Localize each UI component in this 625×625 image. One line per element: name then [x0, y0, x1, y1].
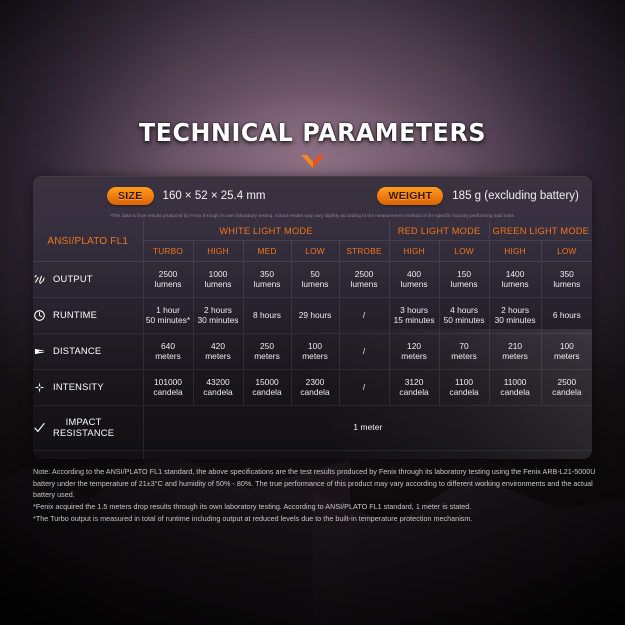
weight-value: 185 g (excluding battery)	[452, 190, 579, 202]
cell-output-red-low: 150 lumens	[439, 262, 489, 298]
cell-distance-green-high: 210 meters	[489, 333, 541, 369]
mode-header-white-low: LOW	[291, 241, 339, 262]
intensity-icon	[33, 381, 46, 394]
cell-intensity-white-med: 15000 candela	[243, 369, 291, 405]
mode-header-white-turbo: TURBO	[143, 241, 193, 262]
group-header-red: RED LIGHT MODE	[389, 221, 489, 241]
cell-distance-white-med: 250 meters	[243, 333, 291, 369]
light-rays-icon	[33, 273, 46, 286]
cell-distance-white-low: 100 meters	[291, 333, 339, 369]
cell-runtime-white-med: 8 hours	[243, 297, 291, 333]
size-weight-strip: SIZE 160 × 52 × 25.4 mm WEIGHT 185 g (ex…	[33, 176, 592, 211]
row-label-output: OUTPUT	[33, 262, 143, 298]
cell-runtime-white-high: 2 hours 30 minutes	[193, 297, 243, 333]
cell-intensity-white-turbo: 101000 candela	[143, 369, 193, 405]
cell-runtime-white-turbo: 1 hour 50 minutes*	[143, 297, 193, 333]
page-title: TECHNICAL PARAMETERS	[16, 118, 610, 147]
page-title-block: TECHNICAL PARAMETERS	[0, 118, 625, 174]
footnotes-block: Note: According to the ANSI/PLATO FL1 st…	[33, 466, 596, 524]
cell-distance-white-strobe: /	[339, 333, 389, 369]
size-group: SIZE 160 × 52 × 25.4 mm	[107, 187, 265, 205]
footnote-note: Note: According to the ANSI/PLATO FL1 st…	[33, 466, 596, 501]
table-row: OUTPUT 2500 lumens 1000 lumens 350 lumen…	[33, 262, 592, 298]
chevron-accent-icon	[300, 154, 326, 169]
table-row: INTENSITY 101000 candela 43200 candela 1…	[33, 369, 592, 405]
cell-intensity-green-high: 11000 candela	[489, 369, 541, 405]
group-header-green: GREEN LIGHT MODE	[489, 221, 592, 241]
row-label-text: OUTPUT	[53, 274, 93, 285]
cell-output-green-high: 1400 lumens	[489, 262, 541, 298]
table-row: RUNTIME 1 hour 50 minutes* 2 hours 30 mi…	[33, 297, 592, 333]
measurement-disclaimer: *This data is from results produced by F…	[33, 211, 592, 218]
cell-runtime-green-high: 2 hours 30 minutes	[489, 297, 541, 333]
ansi-plato-label: ANSI/PLATO FL1	[33, 221, 143, 262]
specification-table: ANSI/PLATO FL1 WHITE LIGHT MODE RED LIGH…	[33, 221, 592, 459]
cell-submersible-value: IP68	[143, 450, 592, 459]
row-label-runtime: RUNTIME	[33, 297, 143, 333]
mode-header-green-low: LOW	[541, 241, 592, 262]
cell-intensity-red-low: 1100 candela	[439, 369, 489, 405]
cell-output-white-turbo: 2500 lumens	[143, 262, 193, 298]
cell-runtime-green-low: 6 hours	[541, 297, 592, 333]
row-label-text: RUNTIME	[53, 310, 97, 321]
table-row: IMPACT RESISTANCE 1 meter	[33, 405, 592, 450]
weight-badge: WEIGHT	[377, 187, 443, 205]
table-group-header-row: ANSI/PLATO FL1 WHITE LIGHT MODE RED LIGH…	[33, 221, 592, 241]
cell-distance-white-turbo: 640 meters	[143, 333, 193, 369]
table-row: SUBMERSIBLE IP68	[33, 450, 592, 459]
impact-resistance-icon	[33, 421, 46, 434]
cell-distance-red-low: 70 meters	[439, 333, 489, 369]
row-label-text: INTENSITY	[53, 382, 104, 393]
cell-output-white-med: 350 lumens	[243, 262, 291, 298]
table-row: DISTANCE 640 meters 420 meters 250 meter…	[33, 333, 592, 369]
row-label-submersible: SUBMERSIBLE	[33, 450, 143, 459]
size-badge: SIZE	[107, 187, 154, 205]
cell-impact-resistance-value: 1 meter	[143, 405, 592, 450]
footnote-drop-test: *Fenix acquired the 1.5 meters drop resu…	[33, 501, 596, 513]
group-header-white: WHITE LIGHT MODE	[143, 221, 389, 241]
row-label-text: DISTANCE	[53, 346, 101, 357]
mode-header-red-high: HIGH	[389, 241, 439, 262]
specification-panel: SIZE 160 × 52 × 25.4 mm WEIGHT 185 g (ex…	[33, 176, 592, 459]
cell-runtime-red-low: 4 hours 50 minutes	[439, 297, 489, 333]
size-value: 160 × 52 × 25.4 mm	[163, 190, 266, 202]
beam-distance-icon	[33, 345, 46, 358]
screenshot-root: TECHNICAL PARAMETERS SIZE 160 × 52 × 25.…	[0, 0, 625, 625]
cell-runtime-white-strobe: /	[339, 297, 389, 333]
mode-header-white-strobe: STROBE	[339, 241, 389, 262]
mode-header-white-high: HIGH	[193, 241, 243, 262]
cell-output-white-strobe: 2500 lumens	[339, 262, 389, 298]
row-label-impact-resistance: IMPACT RESISTANCE	[33, 405, 143, 450]
cell-intensity-white-strobe: /	[339, 369, 389, 405]
cell-intensity-white-low: 2300 candela	[291, 369, 339, 405]
footnote-turbo-output: *The Turbo output is measured in total o…	[33, 513, 596, 525]
cell-intensity-red-high: 3120 candela	[389, 369, 439, 405]
row-label-text: IMPACT RESISTANCE	[53, 417, 114, 439]
cell-runtime-red-high: 3 hours 15 minutes	[389, 297, 439, 333]
row-label-distance: DISTANCE	[33, 333, 143, 369]
cell-intensity-green-low: 2500 candela	[541, 369, 592, 405]
mode-header-red-low: LOW	[439, 241, 489, 262]
cell-distance-white-high: 420 meters	[193, 333, 243, 369]
cell-intensity-white-high: 43200 candela	[193, 369, 243, 405]
cell-output-white-low: 50 lumens	[291, 262, 339, 298]
cell-distance-green-low: 100 meters	[541, 333, 592, 369]
cell-runtime-white-low: 29 hours	[291, 297, 339, 333]
cell-output-green-low: 350 lumens	[541, 262, 592, 298]
mode-header-green-high: HIGH	[489, 241, 541, 262]
row-label-intensity: INTENSITY	[33, 369, 143, 405]
weight-group: WEIGHT 185 g (excluding battery)	[377, 187, 578, 205]
cell-output-white-high: 1000 lumens	[193, 262, 243, 298]
cell-output-red-high: 400 lumens	[389, 262, 439, 298]
clock-icon	[33, 309, 46, 322]
mode-header-white-med: MED	[243, 241, 291, 262]
cell-distance-red-high: 120 meters	[389, 333, 439, 369]
